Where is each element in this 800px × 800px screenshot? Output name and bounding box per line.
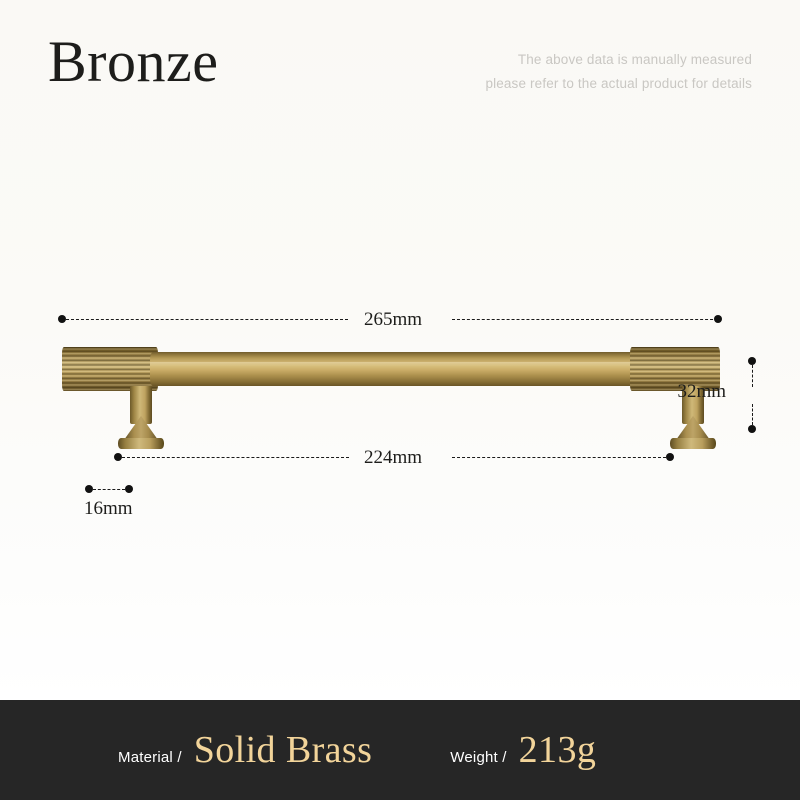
dim-line-length-right bbox=[452, 319, 718, 320]
dim-line-height-bottom bbox=[752, 404, 753, 425]
dim-line-height-top bbox=[752, 365, 753, 387]
material-label: Material / bbox=[118, 749, 182, 766]
spec-weight: Weight / 213g bbox=[450, 728, 596, 772]
dim-dot-length-right bbox=[714, 315, 722, 323]
product-spec-image: Bronze The above data is manually measur… bbox=[0, 0, 800, 800]
dim-dot-height-top bbox=[748, 357, 756, 365]
spec-footer: Material / Solid Brass Weight / 213g bbox=[0, 700, 800, 800]
dim-dot-height-bottom bbox=[748, 425, 756, 433]
dim-dot-base-left bbox=[85, 485, 93, 493]
handle-post-left bbox=[118, 386, 164, 450]
post-base-right bbox=[670, 438, 716, 449]
dim-label-base-diameter: 16mm bbox=[84, 498, 133, 520]
dim-line-ctc-right bbox=[452, 457, 666, 458]
weight-label: Weight / bbox=[450, 749, 506, 766]
dim-line-base bbox=[93, 489, 125, 490]
product-image: 265mm 224mm 32mm 16mm bbox=[0, 0, 800, 700]
material-value: Solid Brass bbox=[194, 728, 373, 772]
dim-line-ctc-left bbox=[122, 457, 349, 458]
spec-material: Material / Solid Brass bbox=[118, 728, 372, 772]
post-base-left bbox=[118, 438, 164, 449]
dim-label-center-to-center: 224mm bbox=[364, 447, 422, 469]
weight-value: 213g bbox=[519, 728, 597, 772]
dim-dot-base-right bbox=[125, 485, 133, 493]
dim-dot-ctc-left bbox=[114, 453, 122, 461]
dim-line-length-left bbox=[66, 319, 348, 320]
handle-fluted-end-left bbox=[62, 347, 158, 391]
dim-label-overall-length: 265mm bbox=[364, 309, 422, 331]
dim-label-projection-height: 32mm bbox=[677, 381, 726, 403]
dim-dot-length-left bbox=[58, 315, 66, 323]
handle-center-bar bbox=[150, 352, 638, 386]
dim-dot-ctc-right bbox=[666, 453, 674, 461]
